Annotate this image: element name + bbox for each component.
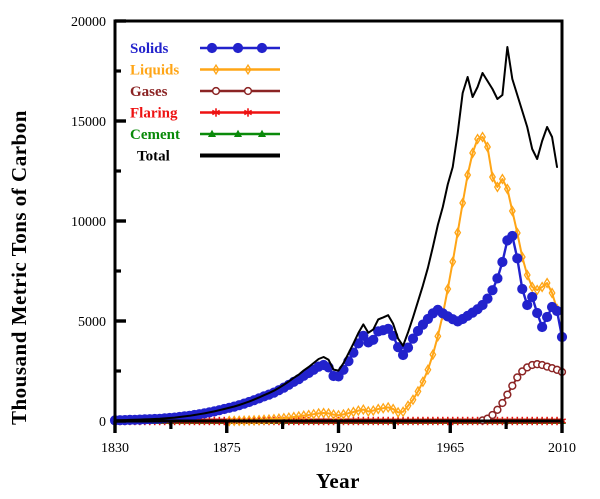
data-point-marker	[483, 294, 492, 303]
legend-label-liquids: Liquids	[130, 63, 179, 79]
data-point-marker	[504, 391, 511, 398]
data-point-marker	[403, 343, 412, 352]
data-point-marker	[498, 257, 507, 266]
data-point-marker	[518, 284, 527, 293]
legend-label-solids: Solids	[130, 41, 169, 57]
y-tick-label: 15000	[71, 115, 106, 130]
data-point-marker	[207, 43, 216, 52]
y-tick-label: 0	[99, 415, 106, 430]
legend-label-gases: Gases	[130, 84, 168, 100]
x-tick-label: 1965	[436, 441, 464, 456]
data-point-marker	[233, 43, 242, 52]
data-point-marker	[493, 274, 502, 283]
x-tick-label: 1875	[213, 441, 241, 456]
legend-label-total: Total	[137, 149, 170, 165]
emissions-line-chart: Thousand Metric Tons of Carbon Year 0500…	[0, 0, 600, 499]
data-point-marker	[213, 88, 220, 95]
y-axis-label: Thousand Metric Tons of Carbon	[7, 110, 31, 425]
data-point-marker	[552, 306, 561, 315]
data-point-marker	[538, 322, 547, 331]
data-point-marker	[369, 335, 378, 344]
data-point-marker	[543, 312, 552, 321]
y-tick-label: 10000	[71, 215, 106, 230]
x-axis-label: Year	[316, 469, 360, 493]
data-point-marker	[514, 374, 521, 381]
data-point-marker	[513, 254, 522, 263]
legend-label-cement: Cement	[130, 127, 180, 143]
x-tick-label: 1920	[325, 441, 353, 456]
data-point-marker	[488, 286, 497, 295]
chart-figure: Thousand Metric Tons of Carbon Year 0500…	[0, 0, 600, 499]
chart-background	[0, 0, 600, 499]
y-tick-label: 20000	[71, 15, 106, 30]
x-tick-label: 2010	[548, 441, 576, 456]
data-point-marker	[509, 382, 516, 389]
legend-label-flaring: Flaring	[130, 106, 178, 122]
data-point-marker	[533, 308, 542, 317]
data-point-marker	[245, 88, 252, 95]
x-tick-label: 1830	[101, 441, 129, 456]
data-point-marker	[257, 43, 266, 52]
data-point-marker	[508, 231, 517, 240]
data-point-marker	[528, 292, 537, 301]
data-point-marker	[494, 406, 501, 413]
y-tick-label: 5000	[78, 315, 106, 330]
data-point-marker	[499, 400, 506, 407]
